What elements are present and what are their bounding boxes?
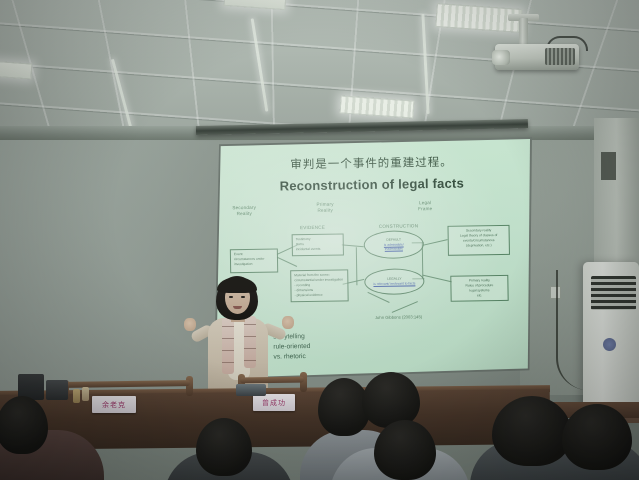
connector-3 (342, 244, 364, 247)
slide-english-title: Reconstruction of legal facts (216, 175, 529, 195)
diagram-ellipse-default: DEFAULT is admissible/ inadmissible (364, 230, 424, 259)
slide-chinese-title: 审判是一个事件的重建过程。 (216, 153, 529, 174)
connector-10 (423, 275, 452, 282)
audience-head-5 (374, 420, 436, 480)
presenter-eye-left (229, 296, 233, 298)
bottle-2 (82, 387, 89, 401)
desk-rail-2 (240, 377, 304, 384)
audience-head-7 (562, 404, 632, 470)
label-secondary-reality: Secondary Reality (225, 205, 263, 218)
placard-right: 曾成功 (253, 394, 295, 411)
wall-panel-box (601, 152, 616, 180)
label-legal-frame: Legal Frame (407, 200, 443, 213)
slide-citation: John Gibbons (2003:145) (375, 314, 422, 320)
audience-head-2 (196, 418, 252, 476)
projector-mount-pole (519, 18, 528, 46)
audience-head-6 (492, 396, 572, 466)
laptop-screen (46, 380, 68, 400)
air-conditioner-logo-icon (603, 338, 616, 351)
bottle-1 (73, 389, 80, 403)
presenter-scarf (222, 316, 256, 374)
air-conditioner-vent (591, 276, 636, 310)
diagram-ellipse-legally: LEGALLY is relevant/ irrelevant to facts (364, 268, 424, 295)
presenter-hand-left (184, 318, 196, 331)
connector-9 (422, 239, 447, 245)
presenter-eye-right (241, 296, 245, 298)
label-construction: CONSTRUCTION (373, 223, 423, 230)
connector-5 (356, 247, 357, 285)
label-primary-reality: Primary Reality (307, 201, 343, 214)
label-evidence: EVIDENCE (291, 225, 333, 232)
ellipse-default-highlight: is admissible/ inadmissible (384, 242, 404, 252)
connector-12 (392, 301, 418, 313)
diagram-box-testimony: Testimony Items incidental events (292, 233, 344, 256)
projector-vent (545, 48, 575, 65)
ceiling-light-panel-far-left (0, 60, 33, 79)
connector-2 (277, 257, 297, 267)
wall-column (594, 118, 639, 263)
diagram-box-secondary-reality: Secondary reality Legal theory of classe… (447, 225, 509, 256)
lecture-hall-photo: 审判是一个事件的重建过程。 Reconstruction of legal fa… (0, 0, 639, 480)
monitor-right (236, 384, 266, 396)
presenter-hand-right (282, 316, 294, 329)
diagram-box-primary-reality: Primary reality Rules of procedure legal… (450, 275, 508, 302)
placard-left: 余老克 (92, 396, 136, 413)
ellipse-legally-highlight: is relevant/ irrelevant to facts (373, 281, 415, 286)
projector-lens (492, 50, 510, 65)
presenter-fringe (217, 277, 257, 293)
audience-head-4 (362, 372, 420, 428)
diagram-box-event: Event: circumstances under investigation (230, 248, 278, 273)
